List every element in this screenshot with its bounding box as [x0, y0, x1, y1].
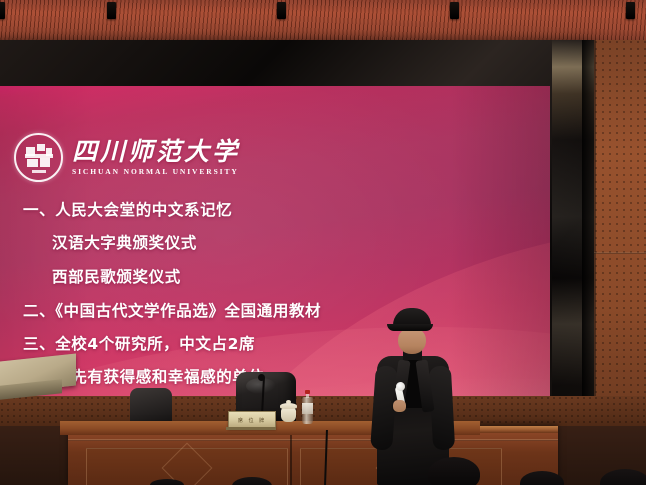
- lecture-hall-photo: 四川师范大学 SICHUAN NORMAL UNIVERSITY 一、人民大会堂…: [0, 0, 646, 485]
- university-logo: 四川师范大学 SICHUAN NORMAL UNIVERSITY: [14, 133, 240, 182]
- university-name-cn: 四川师范大学: [72, 139, 240, 164]
- ceiling-light-icon: [277, 2, 286, 19]
- led-screen-bezel: 四川师范大学 SICHUAN NORMAL UNIVERSITY 一、人民大会堂…: [0, 40, 594, 424]
- chair-secondary: [130, 388, 172, 424]
- university-emblem-icon: [14, 133, 63, 182]
- speaker-hand: [393, 400, 406, 412]
- ceiling-light-icon: [0, 2, 5, 19]
- audience-head: [150, 479, 184, 485]
- slide-line-item-1-sub1: 汉语大字典颁奖仪式: [52, 231, 523, 253]
- speaker-face: [398, 328, 426, 354]
- ceiling-light-icon: [450, 2, 459, 19]
- audience-head: [428, 457, 480, 485]
- right-wall-seam: [594, 252, 646, 254]
- university-name-en: SICHUAN NORMAL UNIVERSITY: [72, 168, 240, 176]
- teacup-icon: [280, 403, 297, 422]
- screen-side-gap: [582, 40, 596, 425]
- ceiling-light-icon: [107, 2, 116, 19]
- desk-nameplate-label: 席 位 牌: [238, 417, 266, 424]
- water-bottle-icon: [302, 390, 313, 424]
- desk-nameplate-base: [226, 427, 276, 430]
- ceiling-light-icon: [626, 2, 635, 19]
- slide-line-item-1: 一、人民大会堂的中文系记忆: [23, 198, 523, 220]
- podium-ridge: [68, 439, 558, 441]
- slide-line-item-1-sub2: 西部民歌颁奖仪式: [52, 265, 523, 287]
